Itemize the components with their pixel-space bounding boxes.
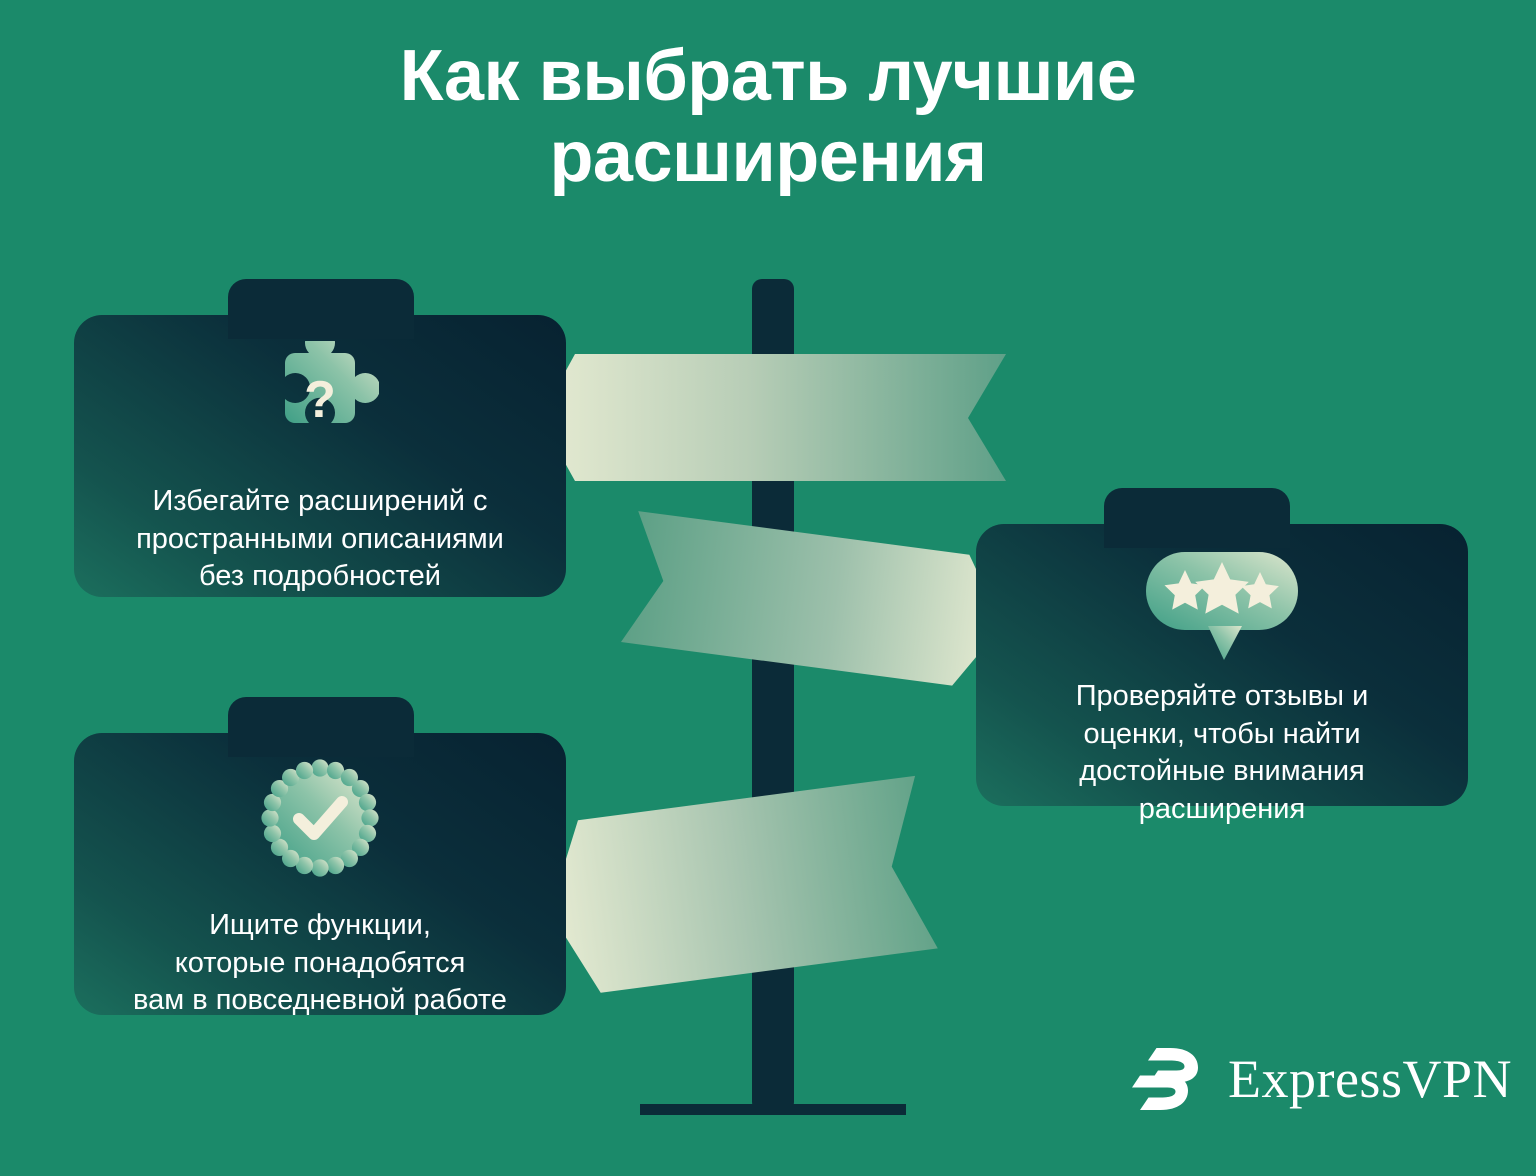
signpost-ground-line	[640, 1104, 906, 1115]
card-text: Избегайте расширений с пространными опис…	[114, 483, 526, 596]
tip-card-look-for-features: Ищите функции, которые понадобятся вам в…	[74, 733, 566, 1015]
sign-middle	[621, 511, 1011, 691]
puzzle-question-icon: ?	[261, 341, 379, 459]
infographic-canvas: Как выбрать лучшие расширения	[0, 0, 1536, 1176]
review-stars-bubble-icon	[1142, 550, 1302, 660]
tip-card-check-reviews-ratings: Проверяйте отзывы и оценки, чтобы найти …	[976, 524, 1468, 806]
tip-card-avoid-vague-descriptions: ? Избегайте расширений с пространными оп…	[74, 315, 566, 597]
sign-bottom	[538, 776, 937, 998]
card-text: Ищите функции, которые понадобятся вам в…	[111, 907, 529, 1020]
card-text: Проверяйте отзывы и оценки, чтобы найти …	[1054, 678, 1391, 829]
verified-badge-check-icon	[261, 759, 379, 877]
expressvpn-e-mark-icon	[1132, 1048, 1206, 1110]
expressvpn-wordmark: ExpressVPN	[1228, 1052, 1512, 1106]
sign-top	[540, 354, 1006, 481]
puzzle-question-glyph: ?	[304, 371, 336, 429]
expressvpn-logo: ExpressVPN	[1132, 1048, 1512, 1110]
